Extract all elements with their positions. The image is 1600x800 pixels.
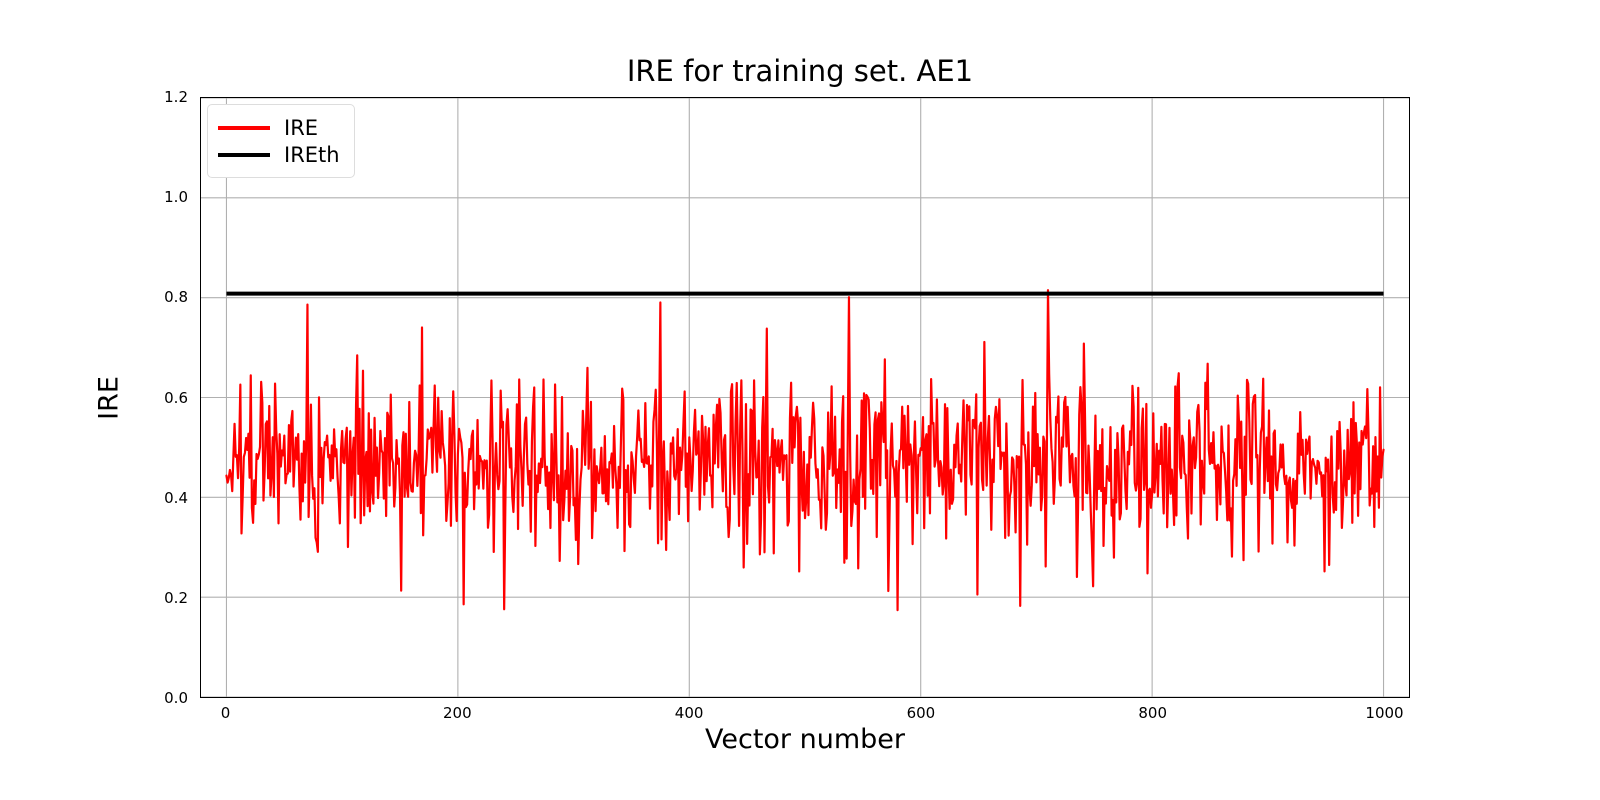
series-layer	[226, 290, 1383, 610]
legend-swatch-ireth	[218, 153, 270, 157]
y-tick-label: 1.0	[128, 188, 188, 206]
x-tick-label: 0	[221, 704, 231, 722]
x-tick-label: 400	[675, 704, 704, 722]
y-axis-label: IRE	[94, 376, 125, 420]
plot-area	[200, 97, 1410, 698]
y-tick-label: 0.6	[128, 389, 188, 407]
chart-legend: IREIREth	[207, 104, 355, 178]
chart-figure: IRE for training set. AE1 0.00.20.40.60.…	[0, 0, 1600, 800]
x-tick-label: 1000	[1365, 704, 1403, 722]
chart-title: IRE for training set. AE1	[0, 54, 1600, 88]
legend-label: IREth	[284, 143, 340, 167]
x-tick-label: 800	[1138, 704, 1167, 722]
x-tick-label: 200	[443, 704, 472, 722]
legend-item: IRE	[218, 114, 340, 141]
y-tick-label: 1.2	[128, 88, 188, 106]
legend-item: IREth	[218, 141, 340, 168]
series-line-ire	[226, 290, 1383, 610]
legend-label: IRE	[284, 116, 318, 140]
y-tick-label: 0.4	[128, 489, 188, 507]
legend-swatch-ire	[218, 126, 270, 130]
y-tick-label: 0.0	[128, 689, 188, 707]
y-tick-label: 0.8	[128, 288, 188, 306]
y-tick-label: 0.2	[128, 589, 188, 607]
plot-svg	[201, 98, 1409, 697]
x-axis-label: Vector number	[200, 724, 1410, 755]
gridlines	[201, 98, 1409, 697]
x-tick-label: 600	[907, 704, 936, 722]
